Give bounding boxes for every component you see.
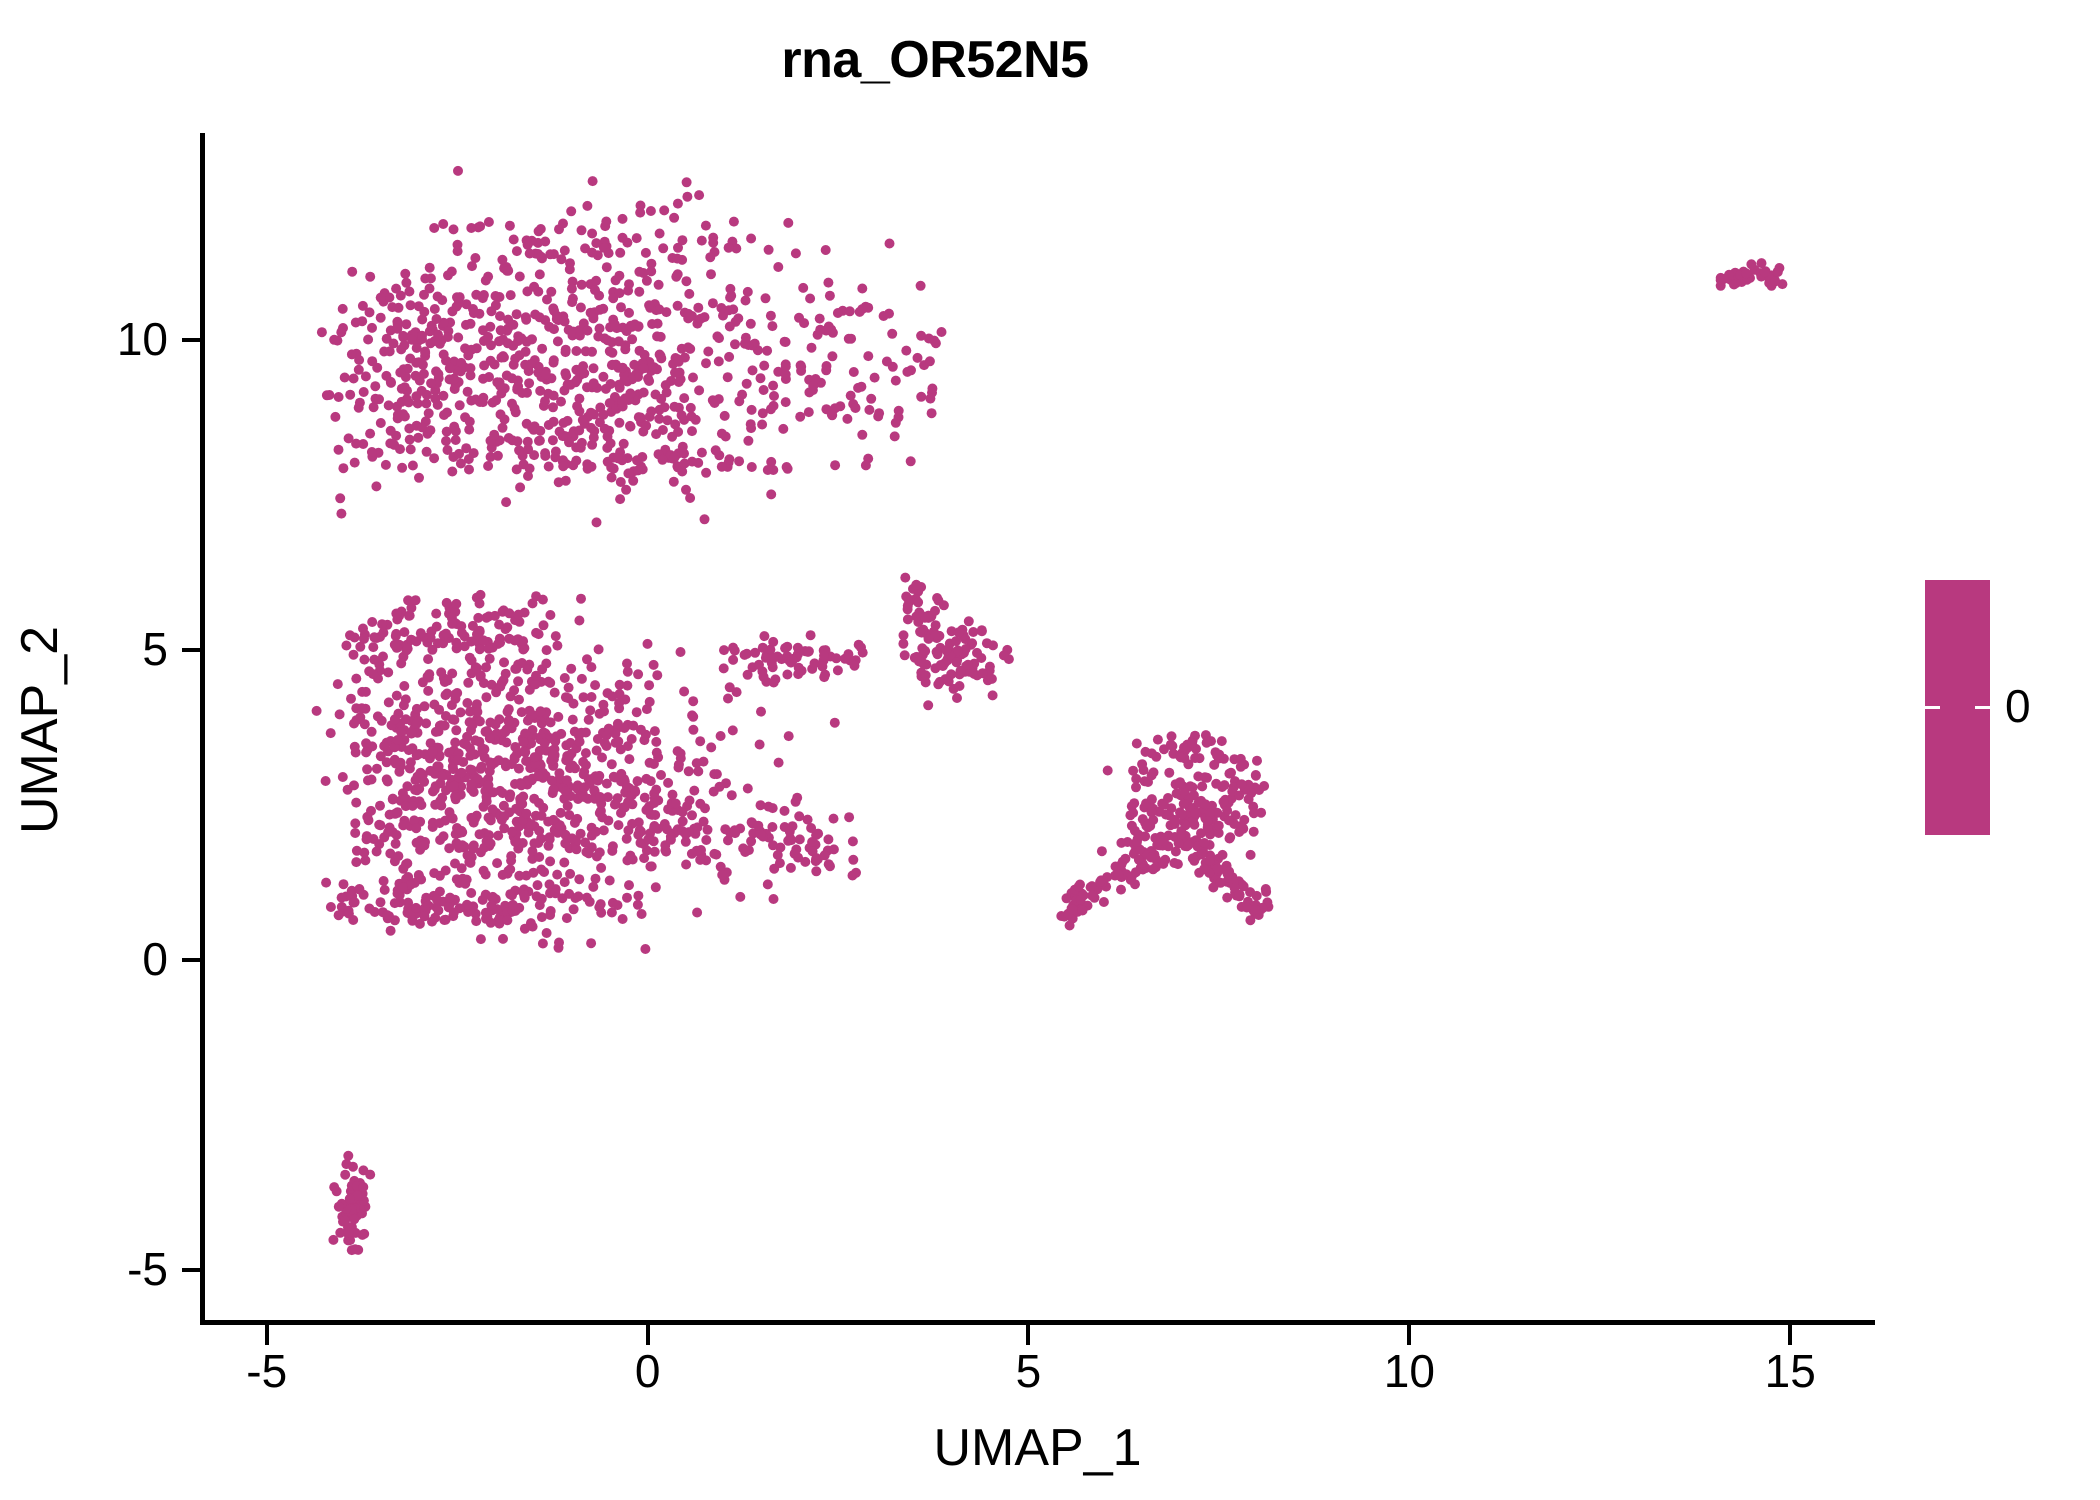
y-tick-mark — [182, 648, 202, 652]
x-tick-mark — [1788, 1325, 1792, 1345]
x-tick-label: 10 — [1329, 1348, 1489, 1394]
chart-root: rna_OR52N5 -50510 -5051015 UMAP_1 UMAP_2… — [0, 0, 2100, 1500]
x-tick-mark — [646, 1325, 650, 1345]
colorbar-tick-right — [1975, 706, 1990, 709]
scatter-points-layer — [202, 135, 1874, 1320]
x-tick-mark — [1026, 1325, 1030, 1345]
y-tick-mark — [182, 958, 202, 962]
y-tick-mark — [182, 1268, 202, 1272]
y-tick-label: -5 — [127, 1246, 168, 1292]
x-tick-label: 15 — [1710, 1348, 1870, 1394]
y-tick-label: 10 — [117, 316, 168, 362]
x-tick-label: 5 — [948, 1348, 1108, 1394]
x-tick-mark — [265, 1325, 269, 1345]
legend-colorbar — [1925, 580, 1990, 835]
y-tick-label: 5 — [142, 626, 168, 672]
x-tick-mark — [1407, 1325, 1411, 1345]
x-axis-title: UMAP_1 — [200, 1418, 1875, 1478]
x-tick-label: -5 — [187, 1348, 347, 1394]
y-tick-mark — [182, 338, 202, 342]
legend: 0 — [1925, 580, 2100, 910]
page-title: rna_OR52N5 — [0, 30, 1870, 90]
x-tick-label: 0 — [568, 1348, 728, 1394]
y-axis-title: UMAP_2 — [10, 130, 70, 1330]
x-axis-line — [200, 1320, 1875, 1325]
scatter-plot-panel — [202, 135, 1874, 1320]
legend-value-label: 0 — [2005, 683, 2031, 729]
y-axis-line — [200, 133, 205, 1325]
y-tick-label: 0 — [142, 936, 168, 982]
colorbar-tick-left — [1925, 706, 1940, 709]
